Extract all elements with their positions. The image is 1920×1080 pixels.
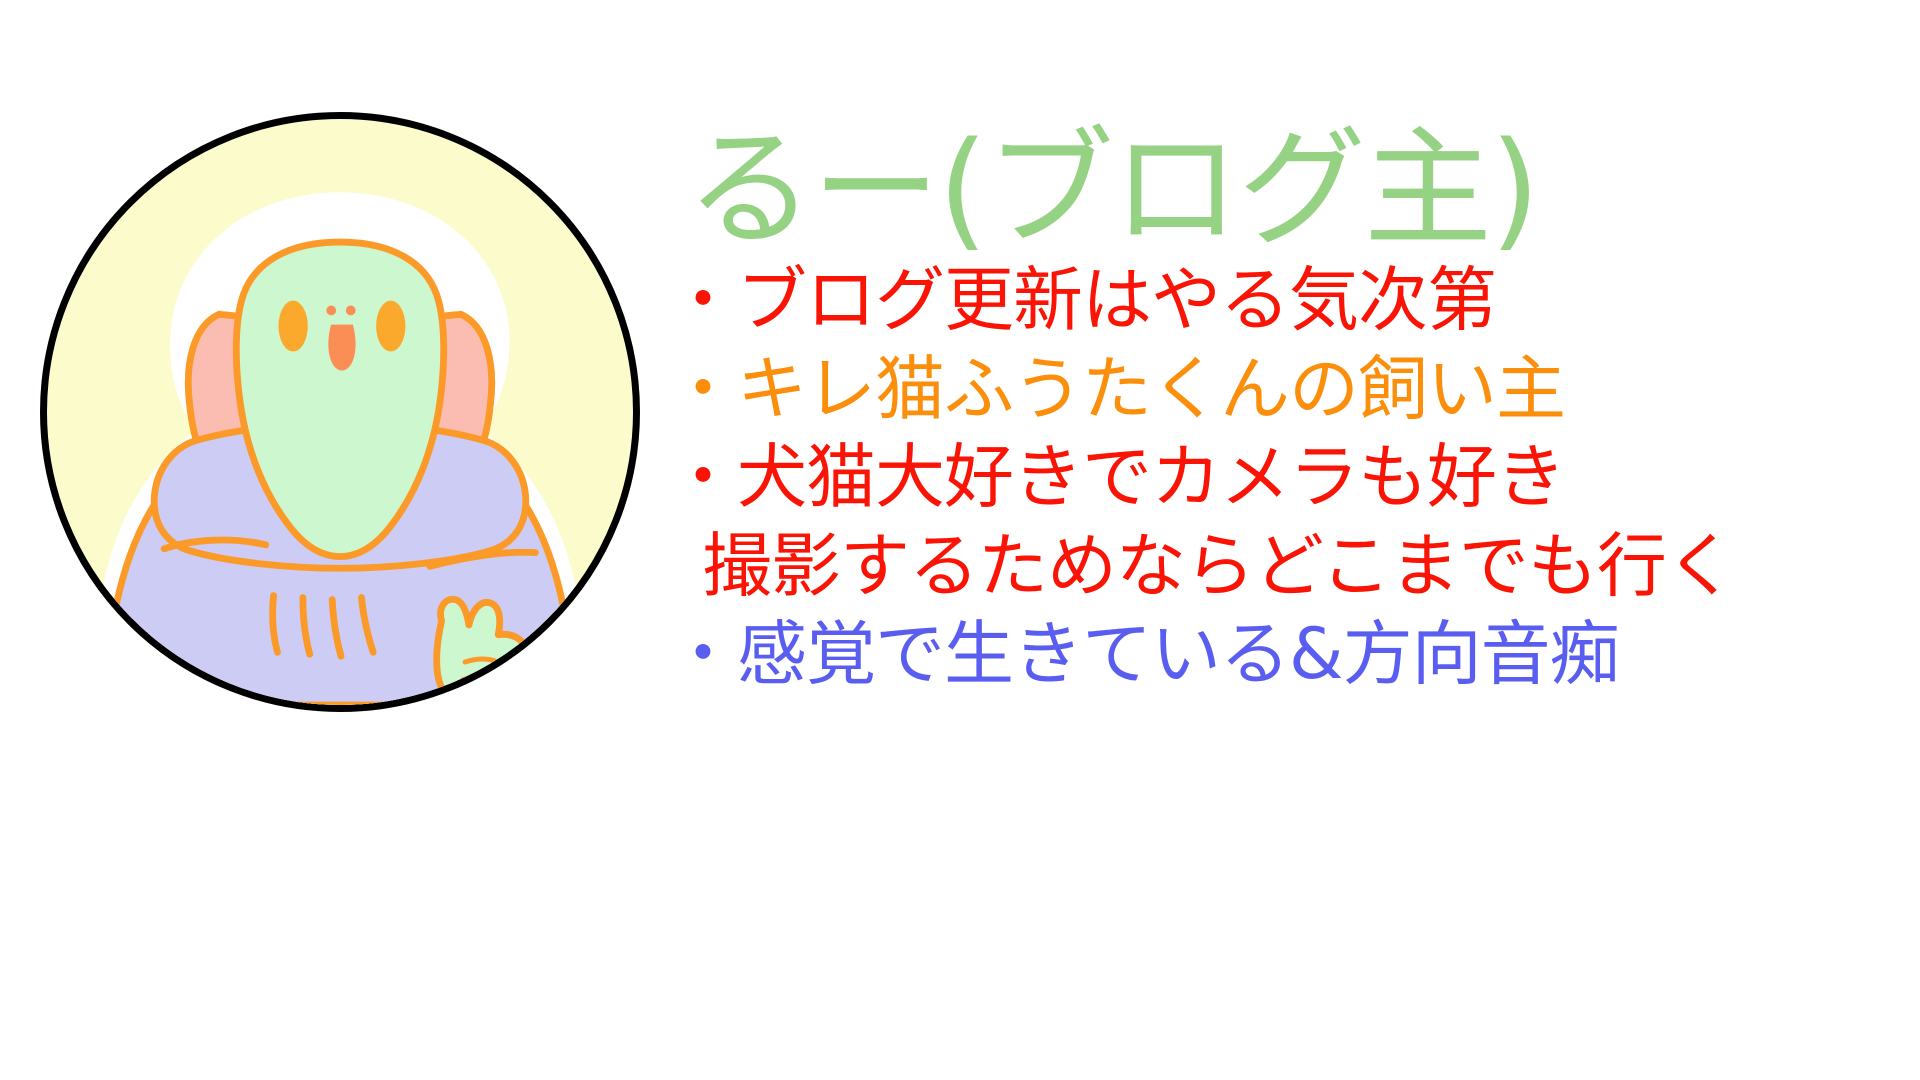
list-item: ・ブログ更新はやる気次第: [668, 256, 1898, 345]
page-title: るー(ブログ主): [686, 126, 1898, 254]
frog-character-avatar: [47, 119, 633, 705]
profile-text-block: るー(ブログ主) ・ブログ更新はやる気次第 ・キレ猫ふうたくんの飼い主 ・犬猫大…: [668, 126, 1898, 699]
list-item: ・犬猫大好きでカメラも好き: [668, 433, 1898, 522]
list-item: ・感覚で生きている&方向音痴: [668, 610, 1898, 699]
left-nostril-icon: [326, 306, 336, 316]
list-item: ・キレ猫ふうたくんの飼い主: [668, 345, 1898, 434]
list-item-continuation: 撮影するためならどこまでも行く: [668, 522, 1898, 611]
right-nostril-icon: [346, 306, 356, 316]
avatar-circle: [40, 112, 640, 712]
left-eye-icon: [278, 301, 307, 352]
mouth-icon: [330, 326, 354, 369]
right-eye-icon: [376, 301, 405, 352]
avatar: [40, 112, 640, 712]
